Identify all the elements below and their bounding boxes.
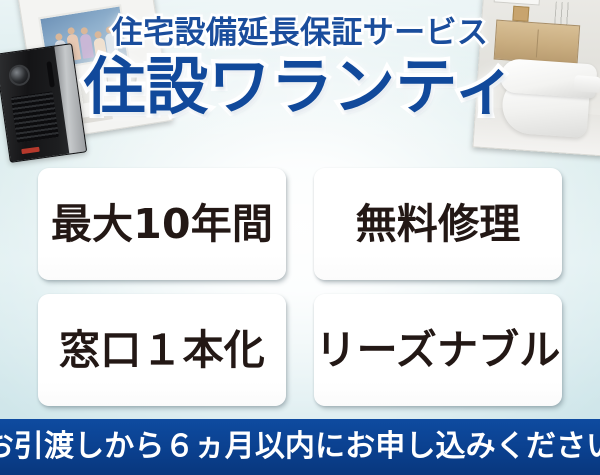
- headings-group: 住宅設備延長保証サービス 住設ワランティ: [0, 16, 600, 121]
- warranty-service-banner: 住宅設備延長保証サービス 住設ワランティ 最大10年間 無料修理 窓口１本化 リ…: [0, 0, 600, 475]
- feature-box-single-contact: 窓口１本化: [38, 294, 286, 406]
- service-title: 住設ワランティ: [0, 54, 600, 121]
- application-deadline-bar: お引渡しから６ヵ月以内にお申し込みください: [0, 419, 600, 475]
- feature-label: 無料修理: [356, 204, 521, 245]
- feature-box-max-years: 最大10年間: [38, 168, 286, 280]
- feature-grid: 最大10年間 無料修理 窓口１本化 リーズナブル: [38, 168, 562, 406]
- application-deadline-text: お引渡しから６ヵ月以内にお申し込みください: [0, 432, 600, 462]
- feature-box-reasonable: リーズナブル: [314, 294, 562, 406]
- wall-fixture: [494, 0, 541, 6]
- feature-label: リーズナブル: [315, 330, 560, 371]
- feature-box-free-repair: 無料修理: [314, 168, 562, 280]
- feature-label: 窓口１本化: [59, 330, 265, 371]
- service-subtitle: 住宅設備延長保証サービス: [0, 16, 600, 50]
- intercom-call-button: [21, 147, 40, 154]
- feature-label: 最大10年間: [51, 204, 273, 245]
